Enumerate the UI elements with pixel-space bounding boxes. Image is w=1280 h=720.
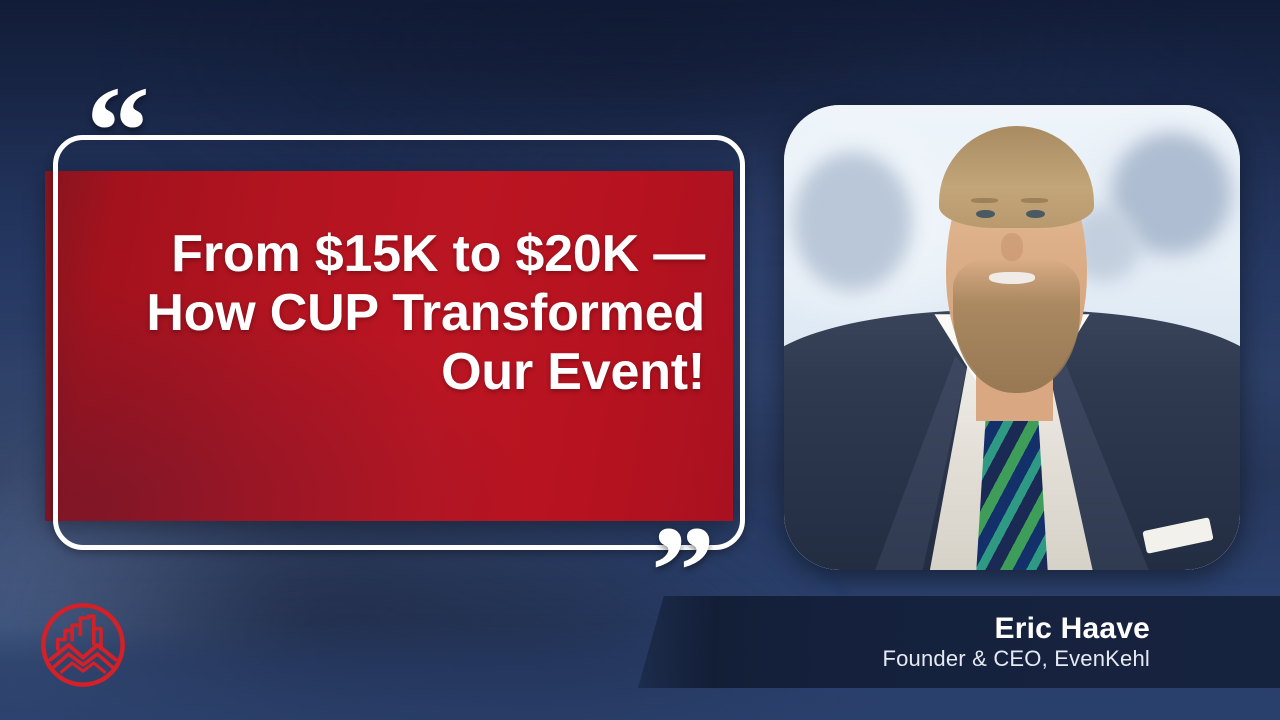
open-quote-icon: “ [86, 93, 150, 170]
city-skyline-handshake-logo [38, 600, 128, 690]
quote-card: From $15K to $20K — How CUP Transformed … [53, 135, 745, 550]
speaker-name-banner: Eric Haave Founder & CEO, EvenKehl [638, 596, 1280, 688]
portrait-nose [1001, 233, 1024, 261]
close-quote-icon: ” [651, 533, 715, 610]
speaker-title: Founder & CEO, EvenKehl [882, 646, 1150, 671]
headline-line-3: Our Event! [93, 343, 705, 402]
testimonial-graphic: From $15K to $20K — How CUP Transformed … [0, 0, 1280, 720]
speaker-portrait [784, 105, 1240, 570]
headline-line-2: How CUP Transformed [93, 284, 705, 343]
portrait-tree-1 [793, 152, 912, 292]
headline-line-1: From $15K to $20K — [93, 225, 705, 284]
portrait-mouth [989, 272, 1035, 283]
quote-headline: From $15K to $20K — How CUP Transformed … [93, 225, 705, 401]
portrait-eyebrow-right [1021, 198, 1048, 203]
portrait-eyebrow-left [971, 198, 998, 203]
speaker-name: Eric Haave [995, 613, 1150, 645]
